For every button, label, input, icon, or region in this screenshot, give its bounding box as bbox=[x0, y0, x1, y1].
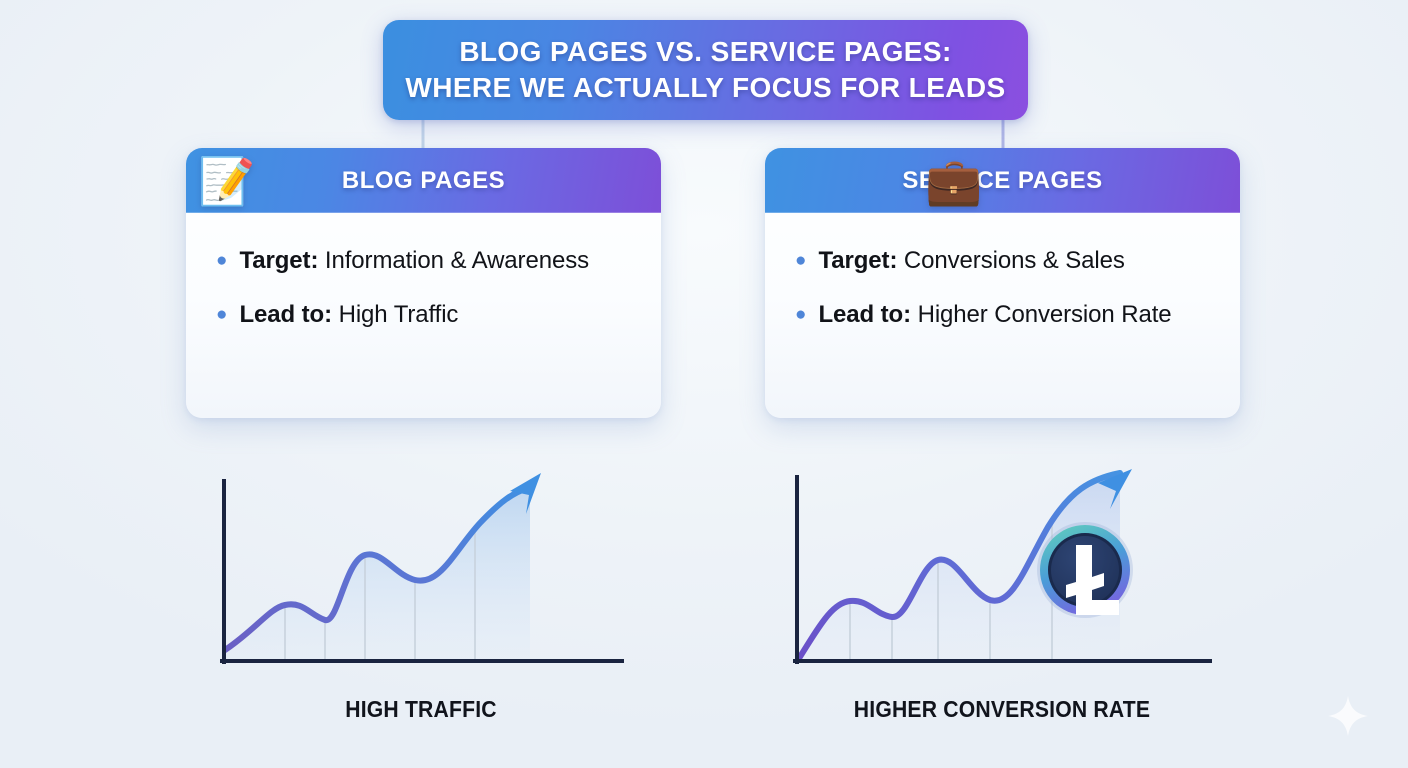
bullet-text: Lead to: High Traffic bbox=[239, 301, 458, 329]
sparkle-icon bbox=[1326, 694, 1370, 738]
bullet-value: Information & Awareness bbox=[325, 247, 589, 274]
card-header-service-pages: 💼 SERVICE PAGES bbox=[765, 148, 1240, 213]
bullet-text: Lead to: Higher Conversion Rate bbox=[818, 301, 1171, 329]
bullet-label: Target: bbox=[239, 247, 318, 274]
chart-higher-conversion-rate bbox=[780, 465, 1220, 695]
list-item: ● Lead to: Higher Conversion Rate bbox=[795, 301, 1240, 329]
card-blog-pages[interactable]: 📝 BLOG PAGES ● Target: Information & Awa… bbox=[186, 148, 661, 418]
memo-icon: 📝 bbox=[198, 158, 255, 204]
bullet-text: Target: Information & Awareness bbox=[239, 247, 589, 275]
chart-caption-high-traffic: HIGH TRAFFIC bbox=[228, 696, 614, 723]
litecoin-coin-icon bbox=[1037, 522, 1133, 618]
bullet-label: Lead to: bbox=[239, 301, 332, 328]
infographic-canvas: BLOG PAGES VS. SERVICE PAGES: WHERE WE A… bbox=[0, 0, 1408, 768]
bullet-dot-icon: ● bbox=[216, 305, 227, 324]
bullet-value: Higher Conversion Rate bbox=[918, 301, 1172, 328]
bullet-label: Target: bbox=[818, 247, 897, 274]
card-service-pages[interactable]: 💼 SERVICE PAGES ● Target: Conversions & … bbox=[765, 148, 1240, 418]
briefcase-icon: 💼 bbox=[925, 158, 982, 204]
page-title: BLOG PAGES VS. SERVICE PAGES: WHERE WE A… bbox=[385, 34, 1025, 107]
bullet-dot-icon: ● bbox=[795, 251, 806, 270]
card-title-blog-pages: BLOG PAGES bbox=[342, 167, 505, 195]
card-header-blog-pages: 📝 BLOG PAGES bbox=[186, 148, 661, 213]
main-title-banner: BLOG PAGES VS. SERVICE PAGES: WHERE WE A… bbox=[383, 20, 1028, 120]
card-body-blog-pages: ● Target: Information & Awareness ● Lead… bbox=[186, 213, 661, 329]
chart-caption-higher-conversion-rate: HIGHER CONVERSION RATE bbox=[809, 696, 1195, 723]
bullet-dot-icon: ● bbox=[795, 305, 806, 324]
list-item: ● Target: Information & Awareness bbox=[216, 247, 661, 275]
chart-high-traffic bbox=[200, 465, 640, 695]
list-item: ● Lead to: High Traffic bbox=[216, 301, 661, 329]
card-body-service-pages: ● Target: Conversions & Sales ● Lead to:… bbox=[765, 213, 1240, 329]
bullet-value: Conversions & Sales bbox=[904, 247, 1125, 274]
bullet-value: High Traffic bbox=[339, 301, 459, 328]
chart-area-fill bbox=[225, 487, 530, 660]
bullet-label: Lead to: bbox=[818, 301, 911, 328]
bullet-dot-icon: ● bbox=[216, 251, 227, 270]
chart-higher-conversion-rate-svg bbox=[780, 465, 1220, 695]
bullet-text: Target: Conversions & Sales bbox=[818, 247, 1124, 275]
chart-high-traffic-svg bbox=[200, 465, 640, 695]
list-item: ● Target: Conversions & Sales bbox=[795, 247, 1240, 275]
